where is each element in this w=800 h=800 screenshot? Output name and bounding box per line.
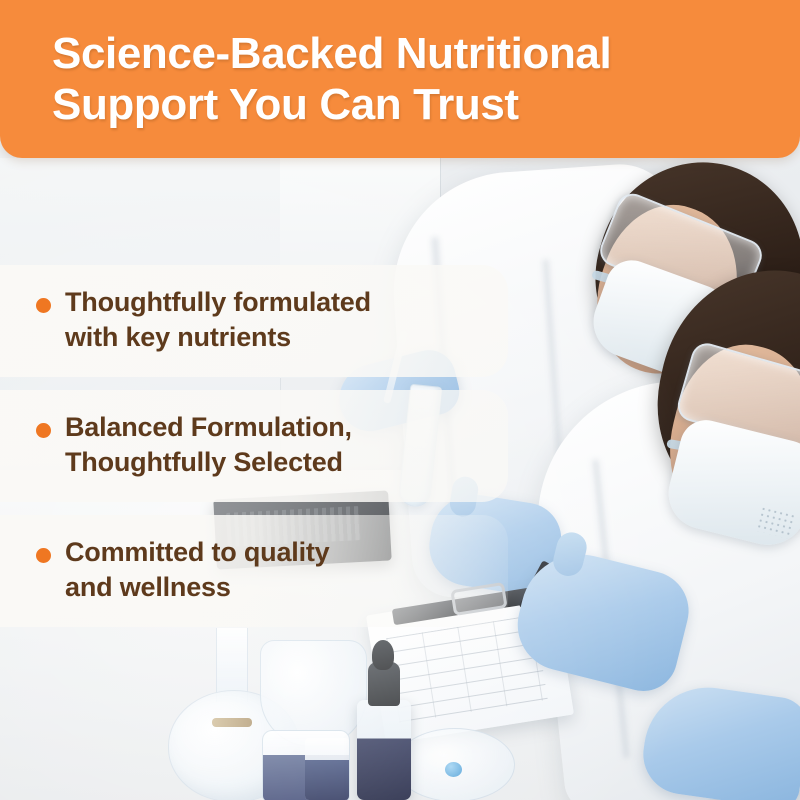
bullet-dot-icon [36,298,51,313]
bullet-dot-icon [36,548,51,563]
feature-text-2: Balanced Formulation, Thoughtfully Selec… [65,410,352,479]
feature-line-2: with key nutrients [65,320,371,355]
feature-text-3: Committed to quality and wellness [65,535,330,604]
flask-ring [212,718,252,727]
feature-text-1: Thoughtfully formulated with key nutrien… [65,285,371,354]
feature-line-2: and wellness [65,570,330,605]
feature-line-1: Committed to quality [65,535,330,570]
dropper-bulb [372,640,394,670]
feature-card-2: Balanced Formulation, Thoughtfully Selec… [0,390,508,502]
feature-line-1: Balanced Formulation, [65,410,352,445]
mask-texture [755,505,796,539]
bullet-dot-icon [36,423,51,438]
vial-liquid [305,760,349,800]
page-title-line-1: Science-Backed Nutritional [52,28,760,79]
dropper-bottle-icon [357,700,411,800]
feature-line-2: Thoughtfully Selected [65,445,352,480]
feature-card-1: Thoughtfully formulated with key nutrien… [0,265,508,377]
promo-graphic: Science-Backed Nutritional Support You C… [0,0,800,800]
feature-card-3: Committed to quality and wellness [0,515,508,627]
vial-icon [305,738,349,800]
feature-line-1: Thoughtfully formulated [65,285,371,320]
page-title-line-2: Support You Can Trust [52,79,760,130]
header-banner: Science-Backed Nutritional Support You C… [0,0,800,158]
petri-dish-droplet [445,762,462,777]
